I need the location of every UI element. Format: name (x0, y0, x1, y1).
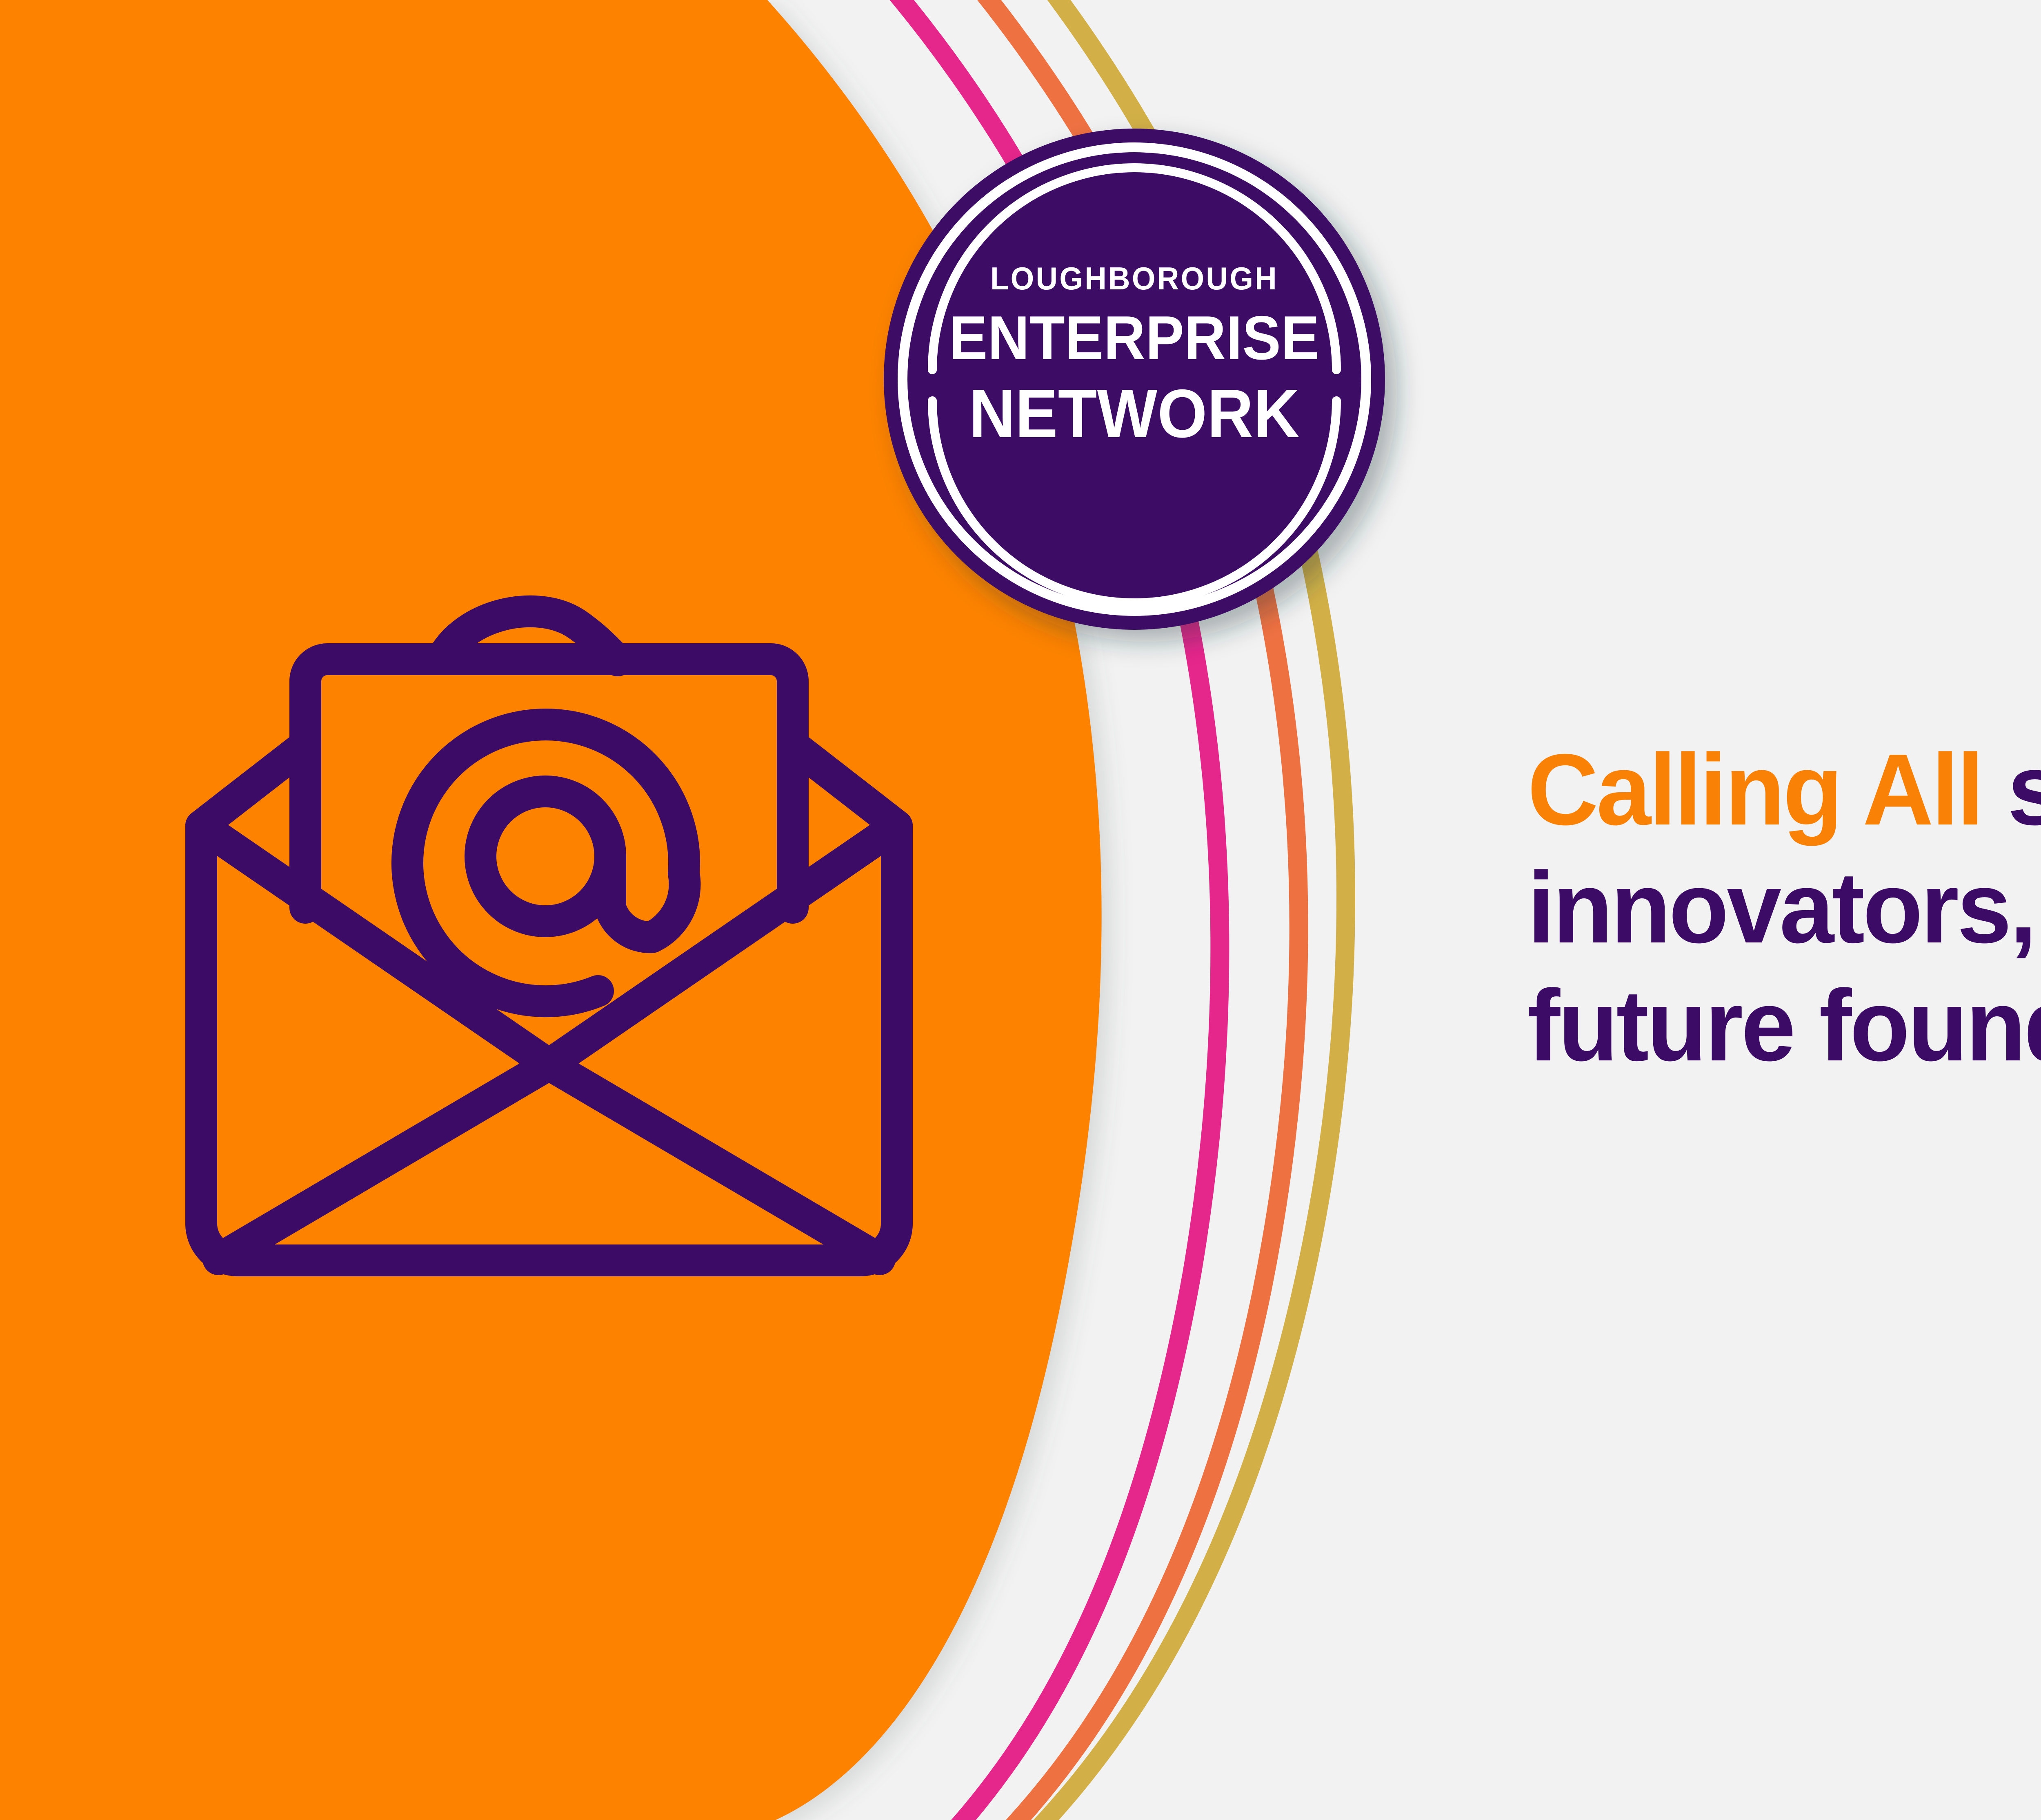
headline-line-1-rest: side-hustlers, (1982, 733, 2041, 846)
loughborough-enterprise-network-logo[interactable]: LOUGHBOROUGH ENTERPRISE NETWORK (877, 122, 1392, 637)
poster-canvas: LOUGHBOROUGH ENTERPRISE NETWORK Calling … (0, 0, 2041, 1820)
headline-accent-calling-all: Calling All (1527, 733, 1982, 846)
envelope-svg (180, 575, 918, 1309)
envelope-crease-left (218, 1064, 549, 1259)
at-symbol (407, 724, 685, 1001)
badge-svg (877, 122, 1392, 637)
envelope-crease-right (549, 1064, 880, 1259)
headline-line-3: future founders! (1527, 967, 2041, 1084)
open-envelope-at-icon (180, 575, 918, 1309)
headline-line-2: innovators, founders and (1527, 849, 2041, 967)
headline-line-1: Calling All side-hustlers, (1527, 731, 2041, 849)
headline: Calling All side-hustlers, innovators, f… (1527, 731, 2041, 1084)
badge-disc (884, 129, 1385, 630)
